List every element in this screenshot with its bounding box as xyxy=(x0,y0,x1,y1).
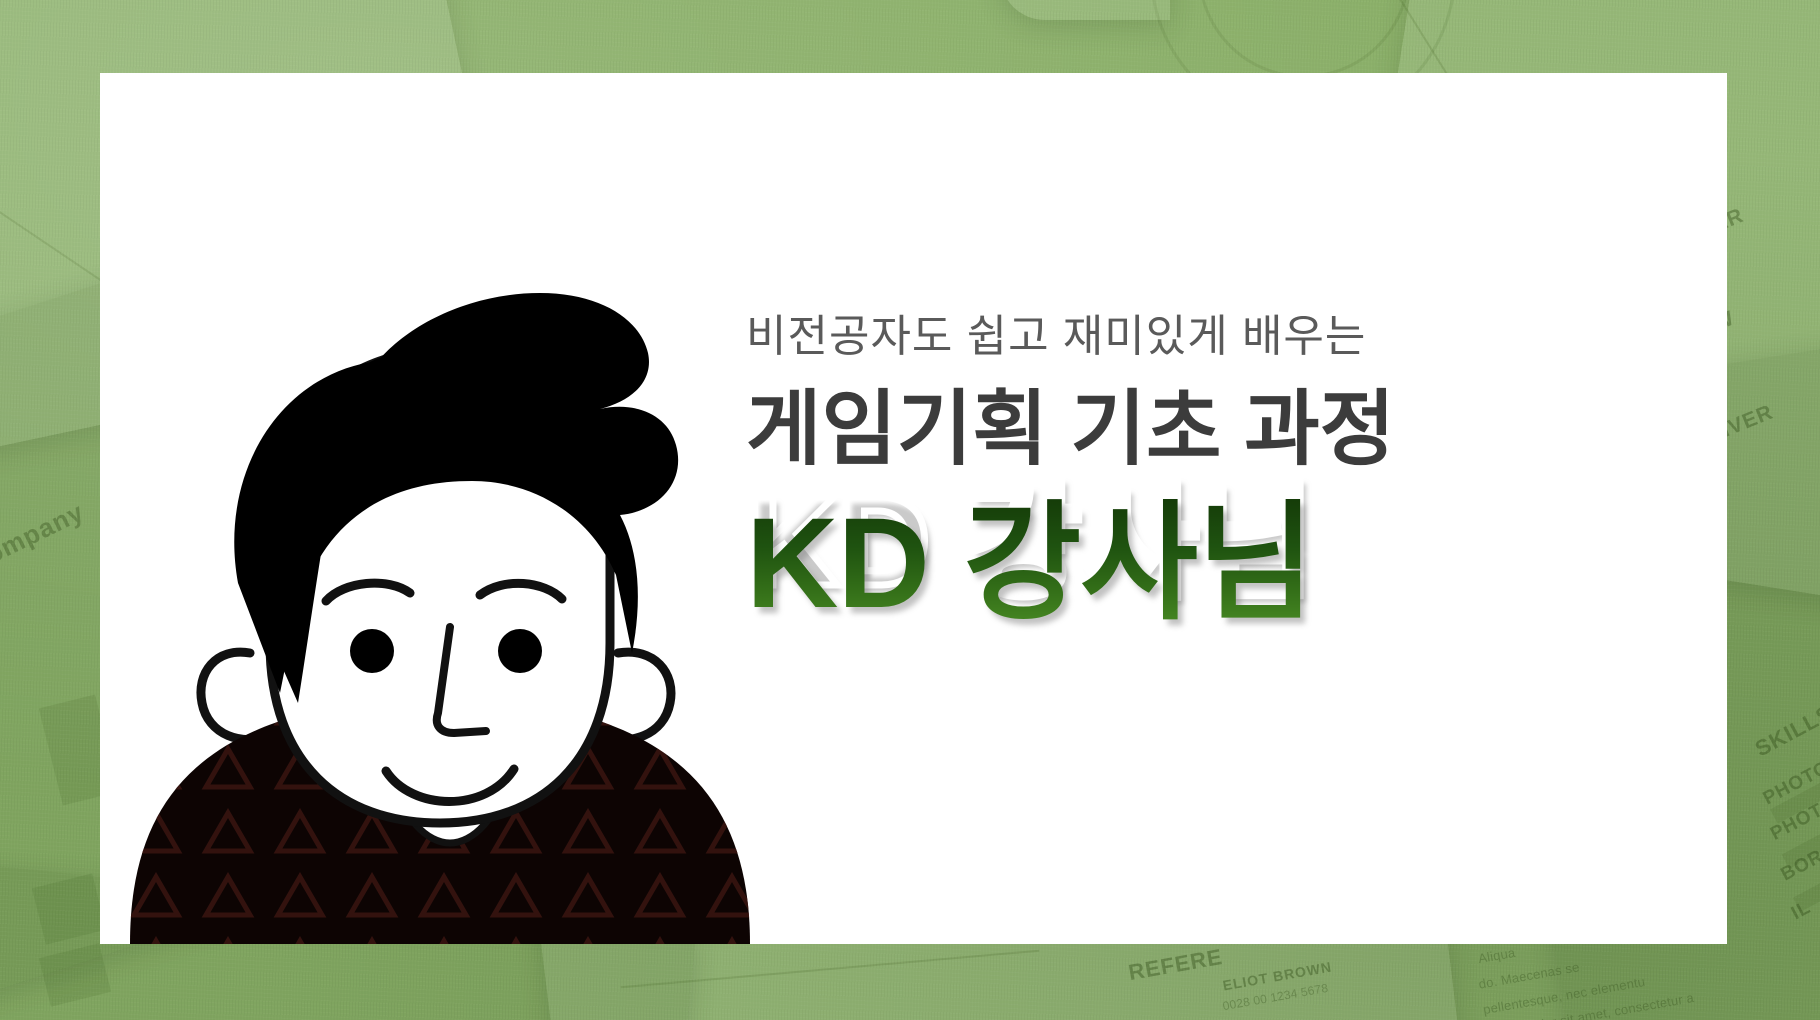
slide-canvas: NG SEMINAR n, UK SIGN CREW ollege, UK gr… xyxy=(0,0,1820,1020)
content-card: 비전공자도 쉽고 재미있게 배우는 게임기획 기초 과정 KD 강사님 KD 강… xyxy=(100,73,1727,944)
instructor-name: KD 강사님 xyxy=(746,495,1314,633)
instructor-name-wrapper: KD 강사님 KD 강사님 xyxy=(746,473,1314,633)
eye-right xyxy=(498,629,542,673)
course-subtitle: 비전공자도 쉽고 재미있게 배우는 xyxy=(746,313,1646,361)
eye-left xyxy=(350,629,394,673)
instructor-avatar-illustration xyxy=(120,223,760,944)
course-title: 게임기획 기초 과정 xyxy=(746,387,1646,473)
course-text-block: 비전공자도 쉽고 재미있게 배우는 게임기획 기초 과정 KD 강사님 KD 강… xyxy=(746,313,1646,634)
